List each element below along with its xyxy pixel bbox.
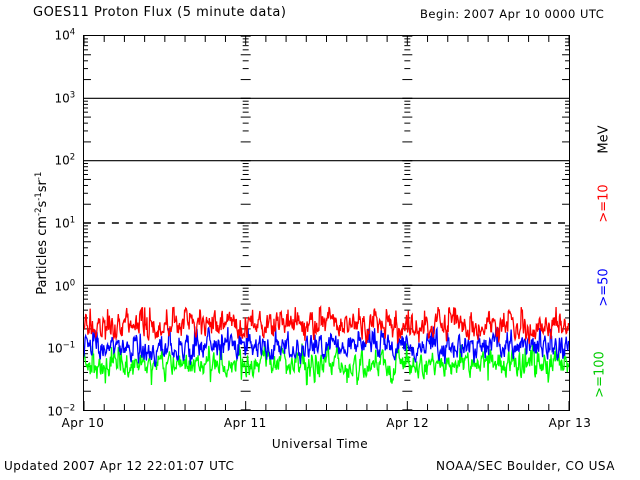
plot-canvas — [84, 36, 569, 410]
y-tick-label: 101 — [54, 216, 79, 231]
x-tick-label: Apr 12 — [386, 416, 429, 430]
y-tick-label: 100 — [54, 278, 79, 293]
legend-item-ge100: >=100 — [593, 335, 608, 415]
y-tick-label: 103 — [54, 90, 79, 105]
x-axis-title: Universal Time — [0, 437, 640, 451]
legend-item-ge50: >=50 — [597, 248, 612, 328]
y-tick-label: 102 — [54, 153, 79, 168]
y-axis-title: Particles cm-2s-1sr-1 — [34, 108, 50, 358]
x-tick-label: Apr 11 — [224, 416, 267, 430]
gridlines-solid — [84, 98, 569, 285]
footer-agency-label: NOAA/SEC Boulder, CO USA — [436, 459, 615, 473]
footer-updated-timestamp: Updated 2007 Apr 12 22:01:07 UTC — [4, 459, 234, 473]
y-tick-label: 10−1 — [47, 341, 79, 356]
legend-item-ge10: >=10 — [597, 164, 612, 244]
x-tick-label: Apr 13 — [549, 416, 592, 430]
plot-area — [83, 35, 570, 411]
y-tick-label: 104 — [54, 28, 79, 43]
goes-proton-flux-chart: GOES11 Proton Flux (5 minute data) Begin… — [0, 0, 640, 480]
x-tick-label: Apr 10 — [62, 416, 105, 430]
begin-time-label: Begin: 2007 Apr 10 0000 UTC — [420, 7, 604, 21]
